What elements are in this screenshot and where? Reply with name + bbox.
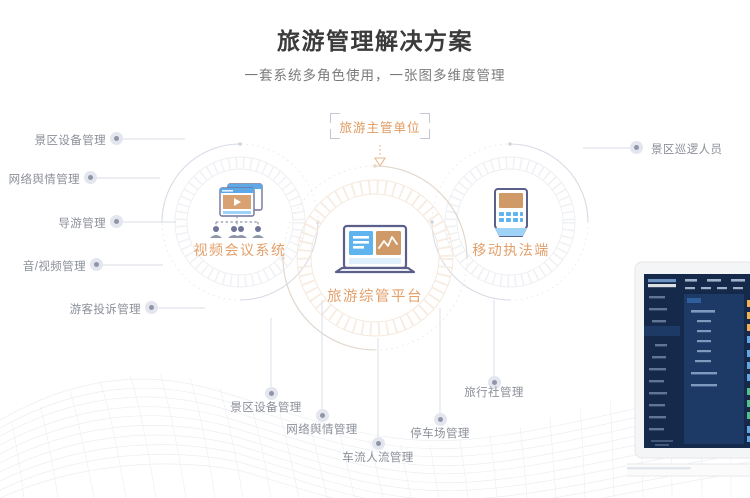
leaf-dot-right-0[interactable] xyxy=(631,142,642,153)
leaf-dot-left-1[interactable] xyxy=(85,172,96,183)
page-subtitle: 一套系统多角色使用，一张图多维度管理 xyxy=(0,56,750,85)
leaf-label-bottom-1[interactable]: 网络舆情管理 xyxy=(267,421,377,437)
leaf-dot-bottom-2[interactable] xyxy=(373,438,384,449)
leaf-dot-left-4[interactable] xyxy=(146,302,157,313)
hub-label-video: 视频会议系统 xyxy=(175,240,305,260)
leaf-label-bottom-2[interactable]: 车流人流管理 xyxy=(323,449,433,465)
infographic-canvas: 旅游管理解决方案 一套系统多角色使用，一张图多维度管理 xyxy=(0,0,750,498)
leaf-dot-bottom-1[interactable] xyxy=(317,410,328,421)
leaf-dot-bottom-3[interactable] xyxy=(435,414,446,425)
authority-box[interactable]: 旅游主管单位 xyxy=(330,113,430,139)
hub-label-mobile: 移动执法端 xyxy=(456,240,566,260)
authority-connector xyxy=(375,145,385,166)
leaf-dot-left-2[interactable] xyxy=(111,216,122,227)
page-title: 旅游管理解决方案 xyxy=(0,0,750,56)
video-conference-icon xyxy=(206,180,274,242)
leaf-label-right-0[interactable]: 景区巡逻人员 xyxy=(651,141,750,157)
handheld-device-icon xyxy=(490,186,532,242)
leaf-label-bottom-4[interactable]: 旅行社管理 xyxy=(439,384,549,400)
leaf-label-bottom-0[interactable]: 景区设备管理 xyxy=(211,399,321,415)
leaf-dot-bottom-0[interactable] xyxy=(266,388,277,399)
leaf-dot-left-0[interactable] xyxy=(111,133,122,144)
leaf-dot-left-3[interactable] xyxy=(91,259,102,270)
leaf-label-left-3[interactable]: 音/视频管理 xyxy=(0,258,86,274)
leaf-label-left-1[interactable]: 网络舆情管理 xyxy=(0,171,80,187)
leaf-label-left-2[interactable]: 导游管理 xyxy=(0,215,106,231)
leaf-label-left-0[interactable]: 景区设备管理 xyxy=(0,132,106,148)
leaf-label-left-4[interactable]: 游客投诉管理 xyxy=(0,301,141,317)
hub-label-center: 旅游综管平台 xyxy=(310,285,440,306)
laptop-dashboard-icon xyxy=(334,224,416,280)
laptop-mockup xyxy=(627,258,750,498)
authority-label: 旅游主管单位 xyxy=(330,113,430,139)
header: 旅游管理解决方案 一套系统多角色使用，一张图多维度管理 xyxy=(0,0,750,85)
leaf-label-bottom-3[interactable]: 停车场管理 xyxy=(385,425,495,441)
